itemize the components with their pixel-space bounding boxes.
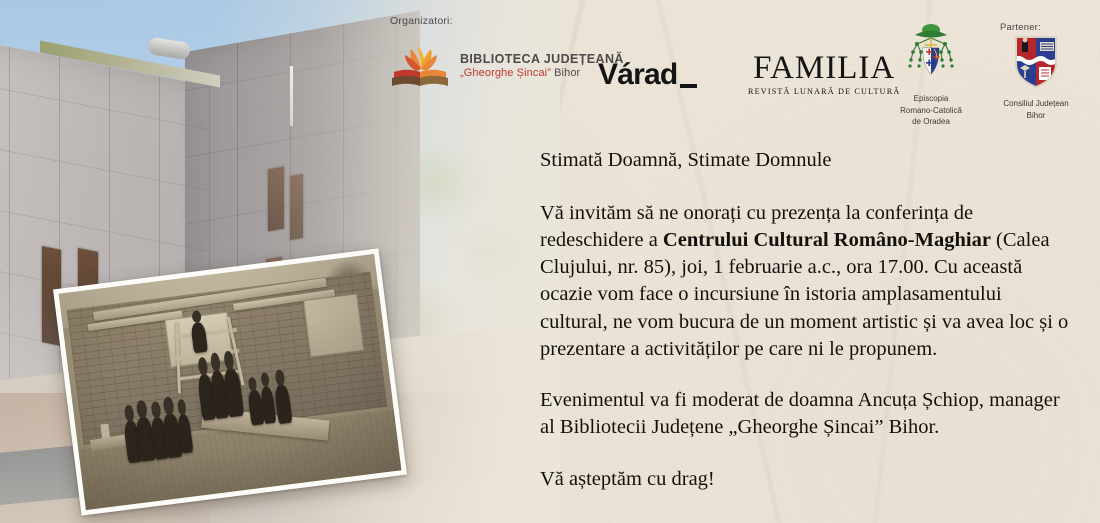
familia-tagline: REVISTĂ LUNARĂ DE CULTURĂ <box>748 87 900 96</box>
bihor-county-shield-icon <box>1013 34 1059 90</box>
consiliul-caption: Consiliul Județean Bihor <box>988 98 1084 121</box>
consiliul-judetean-bihor-logo: Consiliul Județean Bihor <box>988 34 1084 121</box>
biblioteca-judeteana-logo: BIBLIOTECA JUDEȚEANĂ „Gheorghe Șincai” B… <box>388 42 624 90</box>
organizers-label: Organizatori: <box>390 15 453 27</box>
invitation-body: Stimată Doamnă, Stimate Domnule Vă invit… <box>540 148 1070 493</box>
biblioteca-quoted-name: „Gheorghe Șincai” <box>460 67 551 79</box>
consiliul-line-1: Consiliul Județean <box>988 98 1084 110</box>
episcopia-line-3: de Oradea <box>882 116 980 128</box>
historic-photo-image <box>59 254 402 510</box>
episcopia-caption: Episcopia Romano-Catolică de Oradea <box>882 93 980 128</box>
invitation-card: Organizatori: Partener: BIBLIOTECA JUDEȚ… <box>0 0 1100 523</box>
varad-wordmark: Várad <box>598 58 677 92</box>
biblioteca-city: Bihor <box>551 67 580 79</box>
familia-logo: FAMILIA REVISTĂ LUNARĂ DE CULTURĂ <box>748 52 900 96</box>
varad-logo: Várad <box>598 58 697 92</box>
familia-wordmark: FAMILIA <box>748 52 900 85</box>
logo-header: Organizatori: Partener: BIBLIOTECA JUDEȚ… <box>380 8 1092 130</box>
episcopia-line-2: Romano-Catolică <box>882 105 980 117</box>
moderator-paragraph: Evenimentul va fi moderat de doamna Ancu… <box>540 387 1070 442</box>
bishop-coat-of-arms-icon <box>895 18 967 86</box>
consiliul-line-2: Bihor <box>988 110 1084 122</box>
closing-line: Vă așteptăm cu drag! <box>540 466 1070 493</box>
open-book-flame-icon <box>388 42 454 90</box>
invitation-paragraph: Vă invităm să ne onorați cu prezența la … <box>540 200 1070 364</box>
episcopia-line-1: Episcopia <box>882 93 980 105</box>
salutation: Stimată Doamnă, Stimate Domnule <box>540 148 1070 174</box>
episcopia-logo: Episcopia Romano-Catolică de Oradea <box>882 18 980 128</box>
historic-construction-photograph <box>53 248 407 515</box>
photo-vignette <box>59 254 402 510</box>
partner-label: Partener: <box>1000 22 1041 33</box>
varad-underscore-icon <box>680 84 697 88</box>
venue-name: Centrului Cultural Româno-Maghiar <box>663 229 991 251</box>
